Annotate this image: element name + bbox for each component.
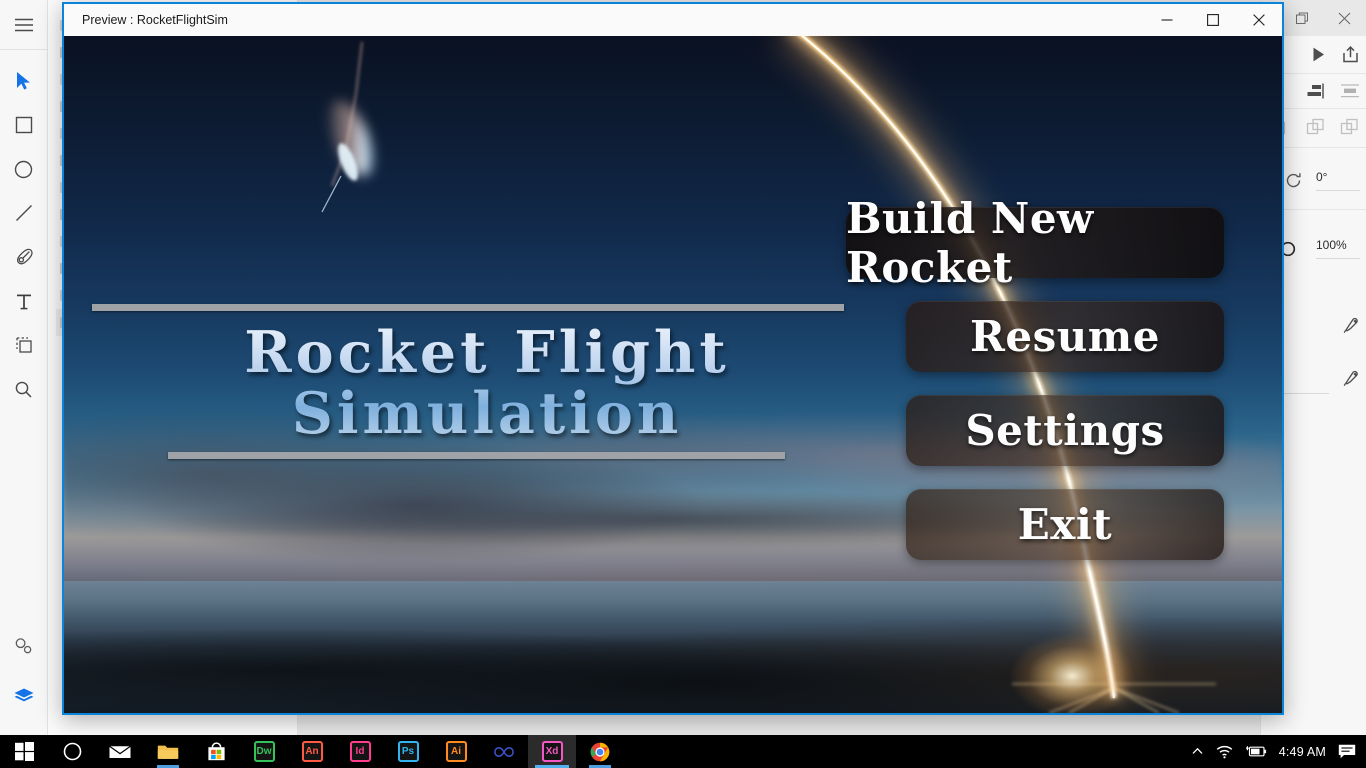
- line-icon: [14, 203, 34, 223]
- distribute-vertical-icon: [1340, 83, 1360, 99]
- build-new-rocket-button[interactable]: Build New Rocket: [846, 207, 1224, 278]
- illustrator-button[interactable]: Ai: [432, 735, 480, 768]
- hamburger-icon: [14, 18, 34, 32]
- envelope-icon: [109, 744, 131, 760]
- infinity-icon: [492, 745, 516, 759]
- ellipse-tool[interactable]: [4, 152, 44, 186]
- chrome-button[interactable]: [576, 735, 624, 768]
- screen: 0° 100%: [0, 0, 1366, 768]
- chrome-icon: [590, 742, 610, 762]
- eyedropper-icon: [1342, 370, 1360, 388]
- folder-icon: [157, 743, 179, 761]
- maximize-icon: [1207, 14, 1219, 26]
- rotation-field-wrap: 0°: [1316, 170, 1360, 191]
- exclude-button[interactable]: [1340, 118, 1360, 138]
- game-main-menu-screen: Rocket Flight Simulation Build New Rocke…: [64, 36, 1282, 713]
- preview-minimize-button[interactable]: [1144, 4, 1190, 36]
- xd-restore-button[interactable]: [1282, 0, 1322, 36]
- microsoft-store-button[interactable]: [192, 735, 240, 768]
- opacity-underline: [1316, 252, 1360, 259]
- rectangle-tool[interactable]: [4, 108, 44, 142]
- exit-button[interactable]: Exit: [906, 489, 1224, 560]
- rotate-button[interactable]: [1285, 172, 1302, 189]
- battery-button[interactable]: [1245, 745, 1267, 758]
- line-tool[interactable]: [4, 196, 44, 230]
- edge-button[interactable]: [480, 735, 528, 768]
- xd-tools-group: [4, 50, 44, 406]
- rotation-underline: [1316, 184, 1360, 191]
- xd-close-button[interactable]: [1324, 0, 1364, 36]
- wifi-icon: [1216, 745, 1233, 759]
- square-icon: [15, 116, 33, 134]
- indesign-button[interactable]: Id: [336, 735, 384, 768]
- preview-window-controls: [1144, 4, 1282, 36]
- intersect-button[interactable]: [1306, 118, 1326, 138]
- restore-icon: [1296, 12, 1309, 25]
- play-icon: [1310, 46, 1327, 63]
- xd-tool-rail: [0, 0, 48, 735]
- mail-button[interactable]: [96, 735, 144, 768]
- opacity-field-wrap: 100%: [1316, 238, 1360, 259]
- windows-taskbar: Dw An Id Ps Ai Xd: [0, 735, 1366, 768]
- artboard-icon: [14, 335, 34, 355]
- windows-logo-icon: [15, 742, 34, 761]
- align-right-icon: [1306, 83, 1326, 99]
- select-tool[interactable]: [4, 64, 44, 98]
- store-bag-icon: [207, 742, 226, 761]
- adobe-chip-icon: Xd: [542, 741, 563, 762]
- opacity-value[interactable]: 100%: [1316, 238, 1347, 252]
- boolean-intersect-icon: [1306, 118, 1326, 138]
- border-eyedropper-button[interactable]: [1342, 370, 1360, 388]
- layers-icon: [13, 687, 35, 706]
- resume-button[interactable]: Resume: [906, 301, 1224, 372]
- distribute-vertical-button[interactable]: [1340, 83, 1360, 99]
- components-icon: [14, 637, 34, 655]
- system-tray: 4:49 AM: [1191, 744, 1366, 759]
- fill-eyedropper-button[interactable]: [1342, 317, 1360, 335]
- artboard-tool[interactable]: [4, 328, 44, 362]
- notification-speech-icon: [1338, 744, 1356, 759]
- assets-panel-button[interactable]: [4, 629, 44, 663]
- share-button[interactable]: [1341, 45, 1360, 64]
- animate-button[interactable]: An: [288, 735, 336, 768]
- preview-window: Preview : RocketFlightSim: [62, 2, 1284, 715]
- show-hidden-icons-button[interactable]: [1191, 745, 1204, 758]
- battery-charging-icon: [1245, 745, 1267, 758]
- adobe-chip-icon: An: [302, 741, 323, 762]
- eyedropper-icon: [1342, 317, 1360, 335]
- adobe-chip-icon: Ai: [446, 741, 467, 762]
- chevron-up-icon: [1191, 745, 1204, 758]
- preview-window-titlebar[interactable]: Preview : RocketFlightSim: [64, 4, 1282, 36]
- hamburger-menu-button[interactable]: [0, 0, 48, 50]
- pen-tool[interactable]: [4, 240, 44, 274]
- close-icon: [1253, 14, 1265, 26]
- notifications-button[interactable]: [1338, 744, 1356, 759]
- adobe-chip-icon: Ps: [398, 741, 419, 762]
- adobe-chip-icon: Dw: [254, 741, 275, 762]
- circle-icon: [14, 160, 33, 179]
- rotation-value[interactable]: 0°: [1316, 170, 1327, 184]
- xd-rail-bottom: [4, 629, 44, 735]
- desktop-preview-button[interactable]: [1310, 46, 1327, 63]
- share-upload-icon: [1341, 45, 1360, 64]
- cortana-button[interactable]: [48, 735, 96, 768]
- settings-button[interactable]: Settings: [906, 395, 1224, 466]
- magnifier-icon: [14, 380, 33, 399]
- main-menu: Build New Rocket Resume Settings Exit: [874, 207, 1224, 560]
- pen-icon: [14, 247, 34, 267]
- text-t-icon: [15, 292, 33, 311]
- preview-window-title: Preview : RocketFlightSim: [82, 13, 228, 27]
- photoshop-button[interactable]: Ps: [384, 735, 432, 768]
- taskbar-items: Dw An Id Ps Ai Xd: [0, 735, 624, 768]
- circle-ring-icon: [63, 742, 82, 761]
- cursor-arrow-icon: [15, 71, 33, 91]
- adobe-xd-button[interactable]: Xd: [528, 735, 576, 768]
- preview-close-button[interactable]: [1236, 4, 1282, 36]
- network-button[interactable]: [1216, 745, 1233, 759]
- text-tool[interactable]: [4, 284, 44, 318]
- minimize-icon: [1161, 14, 1173, 26]
- preview-maximize-button[interactable]: [1190, 4, 1236, 36]
- boolean-exclude-icon: [1340, 118, 1360, 138]
- close-icon: [1338, 12, 1351, 25]
- dreamweaver-button[interactable]: Dw: [240, 735, 288, 768]
- align-right-button[interactable]: [1306, 83, 1326, 99]
- start-button[interactable]: [0, 735, 48, 768]
- adobe-chip-icon: Id: [350, 741, 371, 762]
- layers-panel-button[interactable]: [4, 679, 44, 713]
- file-explorer-button[interactable]: [144, 735, 192, 768]
- taskbar-clock[interactable]: 4:49 AM: [1279, 745, 1326, 759]
- rotate-icon: [1285, 172, 1302, 189]
- zoom-tool[interactable]: [4, 372, 44, 406]
